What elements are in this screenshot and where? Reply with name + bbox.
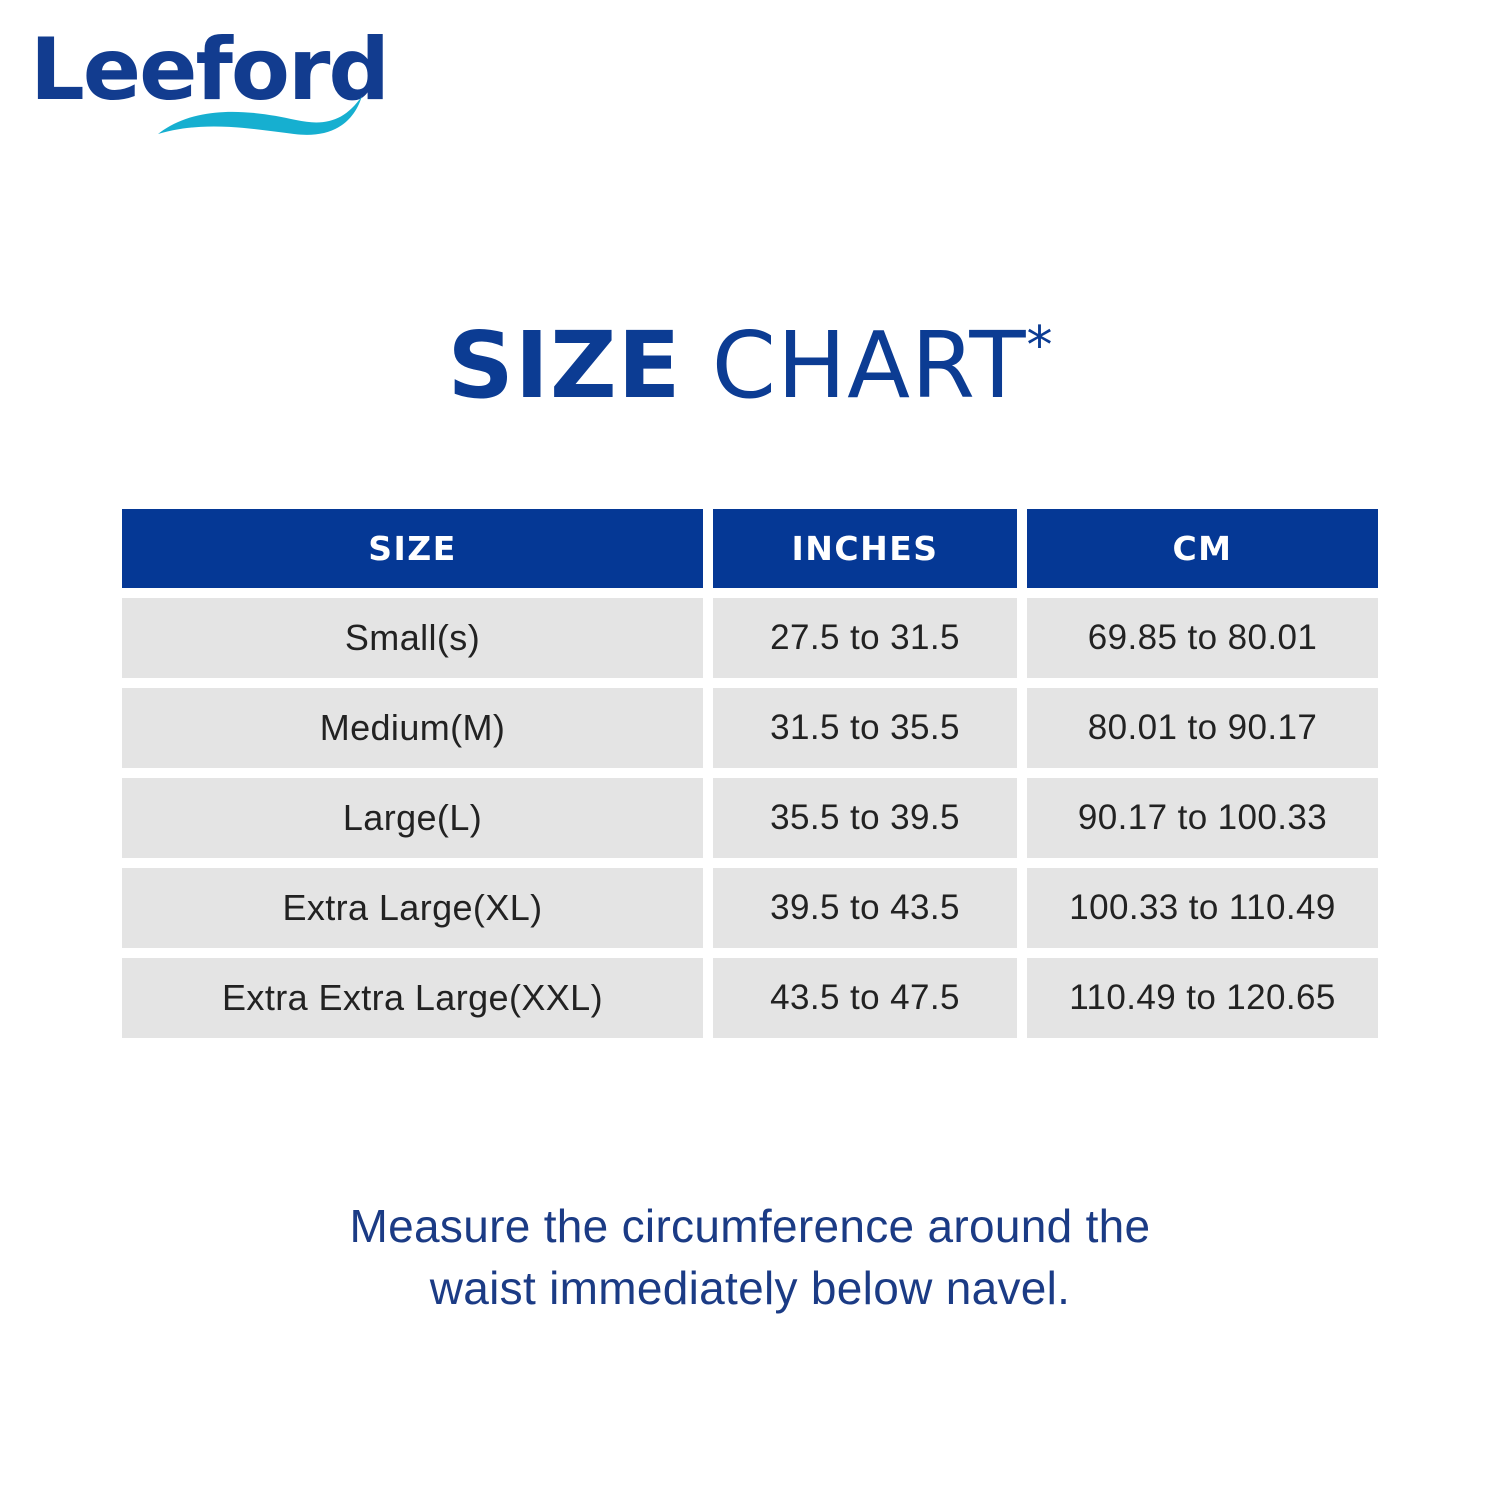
- cell-size: Large(L): [122, 778, 703, 858]
- page-title: SIZE CHART*: [0, 290, 1500, 422]
- column-header-cm: CM: [1027, 509, 1378, 588]
- cell-inches: 43.5 to 47.5: [713, 958, 1017, 1038]
- measurement-instruction: Measure the circumference around the wai…: [0, 1195, 1500, 1319]
- instruction-line-1: Measure the circumference around the: [0, 1195, 1500, 1257]
- table-row: Small(s) 27.5 to 31.5 69.85 to 80.01: [122, 598, 1378, 678]
- cell-inches: 35.5 to 39.5: [713, 778, 1017, 858]
- instruction-line-2: waist immediately below navel.: [0, 1257, 1500, 1319]
- brand-logo: Leeford: [30, 22, 360, 142]
- table-row: Extra Large(XL) 39.5 to 43.5 100.33 to 1…: [122, 868, 1378, 948]
- cell-cm: 69.85 to 80.01: [1027, 598, 1378, 678]
- cell-cm: 100.33 to 110.49: [1027, 868, 1378, 948]
- cell-inches: 31.5 to 35.5: [713, 688, 1017, 768]
- cell-size: Small(s): [122, 598, 703, 678]
- cell-cm: 110.49 to 120.65: [1027, 958, 1378, 1038]
- table-row: Extra Extra Large(XXL) 43.5 to 47.5 110.…: [122, 958, 1378, 1038]
- cell-size: Extra Extra Large(XXL): [122, 958, 703, 1038]
- cell-cm: 90.17 to 100.33: [1027, 778, 1378, 858]
- cell-inches: 39.5 to 43.5: [713, 868, 1017, 948]
- column-header-size: SIZE: [122, 509, 703, 588]
- page-title-asterisk: *: [1027, 316, 1053, 376]
- page-title-light: CHART: [682, 312, 1027, 419]
- cell-size: Medium(M): [122, 688, 703, 768]
- size-chart-table: SIZE INCHES CM Small(s) 27.5 to 31.5 69.…: [122, 509, 1378, 1038]
- table-header-row: SIZE INCHES CM: [122, 509, 1378, 588]
- brand-wave-icon: [156, 94, 366, 140]
- column-header-inches: INCHES: [713, 509, 1017, 588]
- table-row: Large(L) 35.5 to 39.5 90.17 to 100.33: [122, 778, 1378, 858]
- cell-cm: 80.01 to 90.17: [1027, 688, 1378, 768]
- table-row: Medium(M) 31.5 to 35.5 80.01 to 90.17: [122, 688, 1378, 768]
- page-title-bold: SIZE: [447, 312, 681, 419]
- cell-inches: 27.5 to 31.5: [713, 598, 1017, 678]
- cell-size: Extra Large(XL): [122, 868, 703, 948]
